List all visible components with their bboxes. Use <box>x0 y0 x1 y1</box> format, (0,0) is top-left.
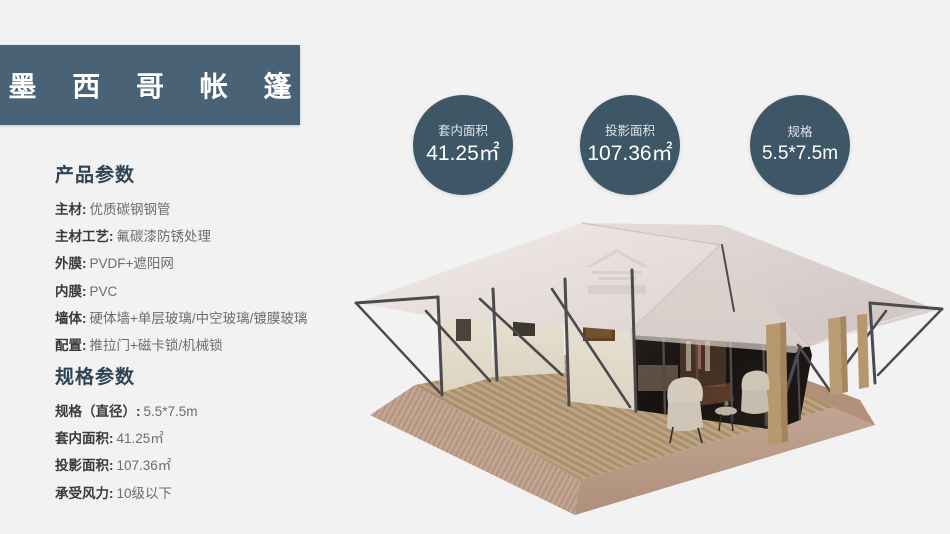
param-value: 10级以下 <box>117 485 173 503</box>
param-label: 墙体: <box>55 310 87 328</box>
stat-badge-projected-area: 投影面积 107.36㎡ <box>580 95 680 195</box>
param-label: 承受风力: <box>55 485 114 503</box>
param-value: 硬体墙+单层玻璃/中空玻璃/镀膜玻璃 <box>90 310 308 328</box>
title-banner: 墨 西 哥 帐 篷 <box>0 45 300 125</box>
param-value: 41.25㎡ <box>117 430 164 448</box>
wall-window <box>456 319 471 341</box>
product-parameters-list: 主材: 优质碳钢钢管 主材工艺: 氟碳漆防锈处理 外膜: PVDF+遮阳网 内膜… <box>55 201 307 355</box>
param-row: 投影面积: 107.36㎡ <box>55 457 198 475</box>
tent-illustration <box>330 215 950 534</box>
param-label: 主材: <box>55 201 87 219</box>
param-row: 承受风力: 10级以下 <box>55 485 198 503</box>
slide-canvas: 墨 西 哥 帐 篷 产品参数 主材: 优质碳钢钢管 主材工艺: 氟碳漆防锈处理 … <box>0 0 950 534</box>
param-label: 配置: <box>55 337 87 355</box>
stat-value: 5.5*7.5m <box>762 144 838 164</box>
param-label: 规格（直径）: <box>55 403 141 421</box>
stat-value: 107.36㎡ <box>587 143 672 165</box>
param-row: 配置: 推拉门+磁卡锁/机械锁 <box>55 337 307 355</box>
guy-strut <box>356 303 440 393</box>
stat-badge-dimensions: 规格 5.5*7.5m <box>750 95 850 195</box>
param-row: 墙体: 硬体墙+单层玻璃/中空玻璃/镀膜玻璃 <box>55 310 307 328</box>
stat-value: 41.25㎡ <box>426 143 500 165</box>
stat-label: 规格 <box>787 126 812 140</box>
side-table-top <box>715 407 737 416</box>
param-label: 主材工艺: <box>55 228 114 246</box>
param-label: 投影面积: <box>55 457 114 475</box>
page-title: 墨 西 哥 帐 篷 <box>0 65 306 105</box>
param-value: 5.5*7.5m <box>144 403 198 421</box>
stat-label: 套内面积 <box>438 125 488 139</box>
param-row: 外膜: PVDF+遮阳网 <box>55 255 307 273</box>
param-value: 优质碳钢钢管 <box>90 201 171 219</box>
armchair-seat <box>741 387 769 414</box>
param-label: 内膜: <box>55 283 87 301</box>
param-row: 套内面积: 41.25㎡ <box>55 430 198 448</box>
param-row: 规格（直径）: 5.5*7.5m <box>55 403 198 421</box>
param-value: 推拉门+磁卡锁/机械锁 <box>90 337 223 355</box>
product-parameters-section: 产品参数 主材: 优质碳钢钢管 主材工艺: 氟碳漆防锈处理 外膜: PVDF+遮… <box>55 166 307 364</box>
tent-render-image <box>330 215 950 534</box>
param-row: 主材: 优质碳钢钢管 <box>55 201 307 219</box>
param-row: 内膜: PVC <box>55 283 307 301</box>
interior-garment <box>686 341 691 371</box>
param-row: 主材工艺: 氟碳漆防锈处理 <box>55 228 307 246</box>
param-value: 107.36㎡ <box>117 457 172 475</box>
stat-badge-interior-area: 套内面积 41.25㎡ <box>413 95 513 195</box>
spec-parameters-list: 规格（直径）: 5.5*7.5m 套内面积: 41.25㎡ 投影面积: 107.… <box>55 403 198 503</box>
armchair-seat <box>667 398 703 431</box>
param-value: PVDF+遮阳网 <box>90 255 174 273</box>
spec-parameters-heading: 规格参数 <box>55 368 198 389</box>
timber-column <box>828 317 842 395</box>
stat-label: 投影面积 <box>605 125 655 139</box>
spec-parameters-section: 规格参数 规格（直径）: 5.5*7.5m 套内面积: 41.25㎡ 投影面积:… <box>55 368 198 512</box>
product-parameters-heading: 产品参数 <box>55 166 307 187</box>
param-label: 外膜: <box>55 255 87 273</box>
param-label: 套内面积: <box>55 430 114 448</box>
param-value: PVC <box>90 283 118 301</box>
timber-column <box>857 314 869 389</box>
param-value: 氟碳漆防锈处理 <box>117 228 212 246</box>
